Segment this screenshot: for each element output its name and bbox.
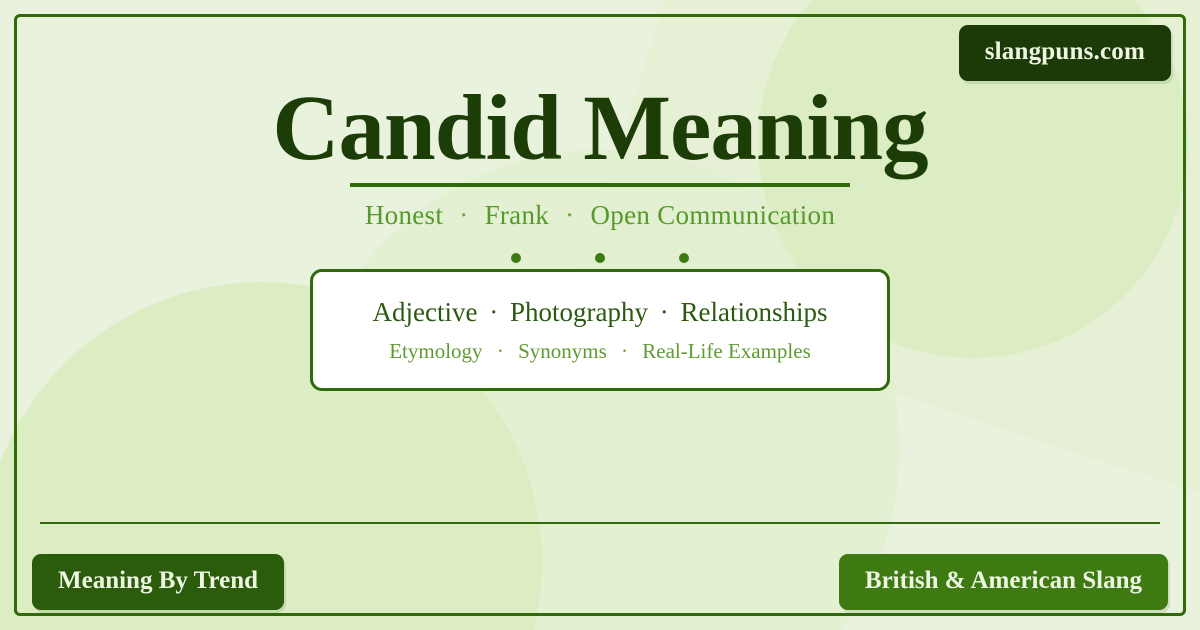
footer-divider [40, 522, 1160, 524]
subtitle-separator-1: · [450, 200, 477, 230]
dot-icon [595, 253, 605, 263]
british-american-slang-button[interactable]: British & American Slang [839, 554, 1168, 610]
subtitle-separator-2: · [556, 200, 583, 230]
card-primary-separator-2: · [655, 297, 674, 327]
card-secondary-separator-1: · [488, 339, 513, 363]
card-primary-separator-1: · [484, 297, 503, 327]
page-title: Candid Meaning [0, 82, 1200, 175]
card-secondary-part-3: Real-Life Examples [642, 339, 811, 363]
subtitle-part-1: Honest [365, 200, 443, 230]
dot-icon [679, 253, 689, 263]
card-primary-part-3: Relationships [680, 297, 827, 327]
card-secondary-separator-2: · [612, 339, 637, 363]
subtitle-part-2: Frank [485, 200, 550, 230]
subtitle-part-3: Open Communication [591, 200, 836, 230]
card-primary-part-1: Adjective [373, 297, 478, 327]
card-secondary-part-1: Etymology [389, 339, 482, 363]
card-secondary-line: Etymology · Synonyms · Real-Life Example… [389, 339, 811, 364]
site-badge[interactable]: slangpuns.com [959, 25, 1171, 81]
card-secondary-part-2: Synonyms [518, 339, 607, 363]
dot-icon [511, 253, 521, 263]
dot-separator-group [0, 250, 1200, 262]
topics-card: Adjective · Photography · Relationships … [310, 269, 890, 391]
card-primary-line: Adjective · Photography · Relationships [373, 297, 828, 328]
page-subtitle: Honest · Frank · Open Communication [0, 200, 1200, 231]
card-primary-part-2: Photography [510, 297, 648, 327]
title-underline-rule [350, 183, 850, 187]
meaning-by-trend-button[interactable]: Meaning By Trend [32, 554, 284, 610]
